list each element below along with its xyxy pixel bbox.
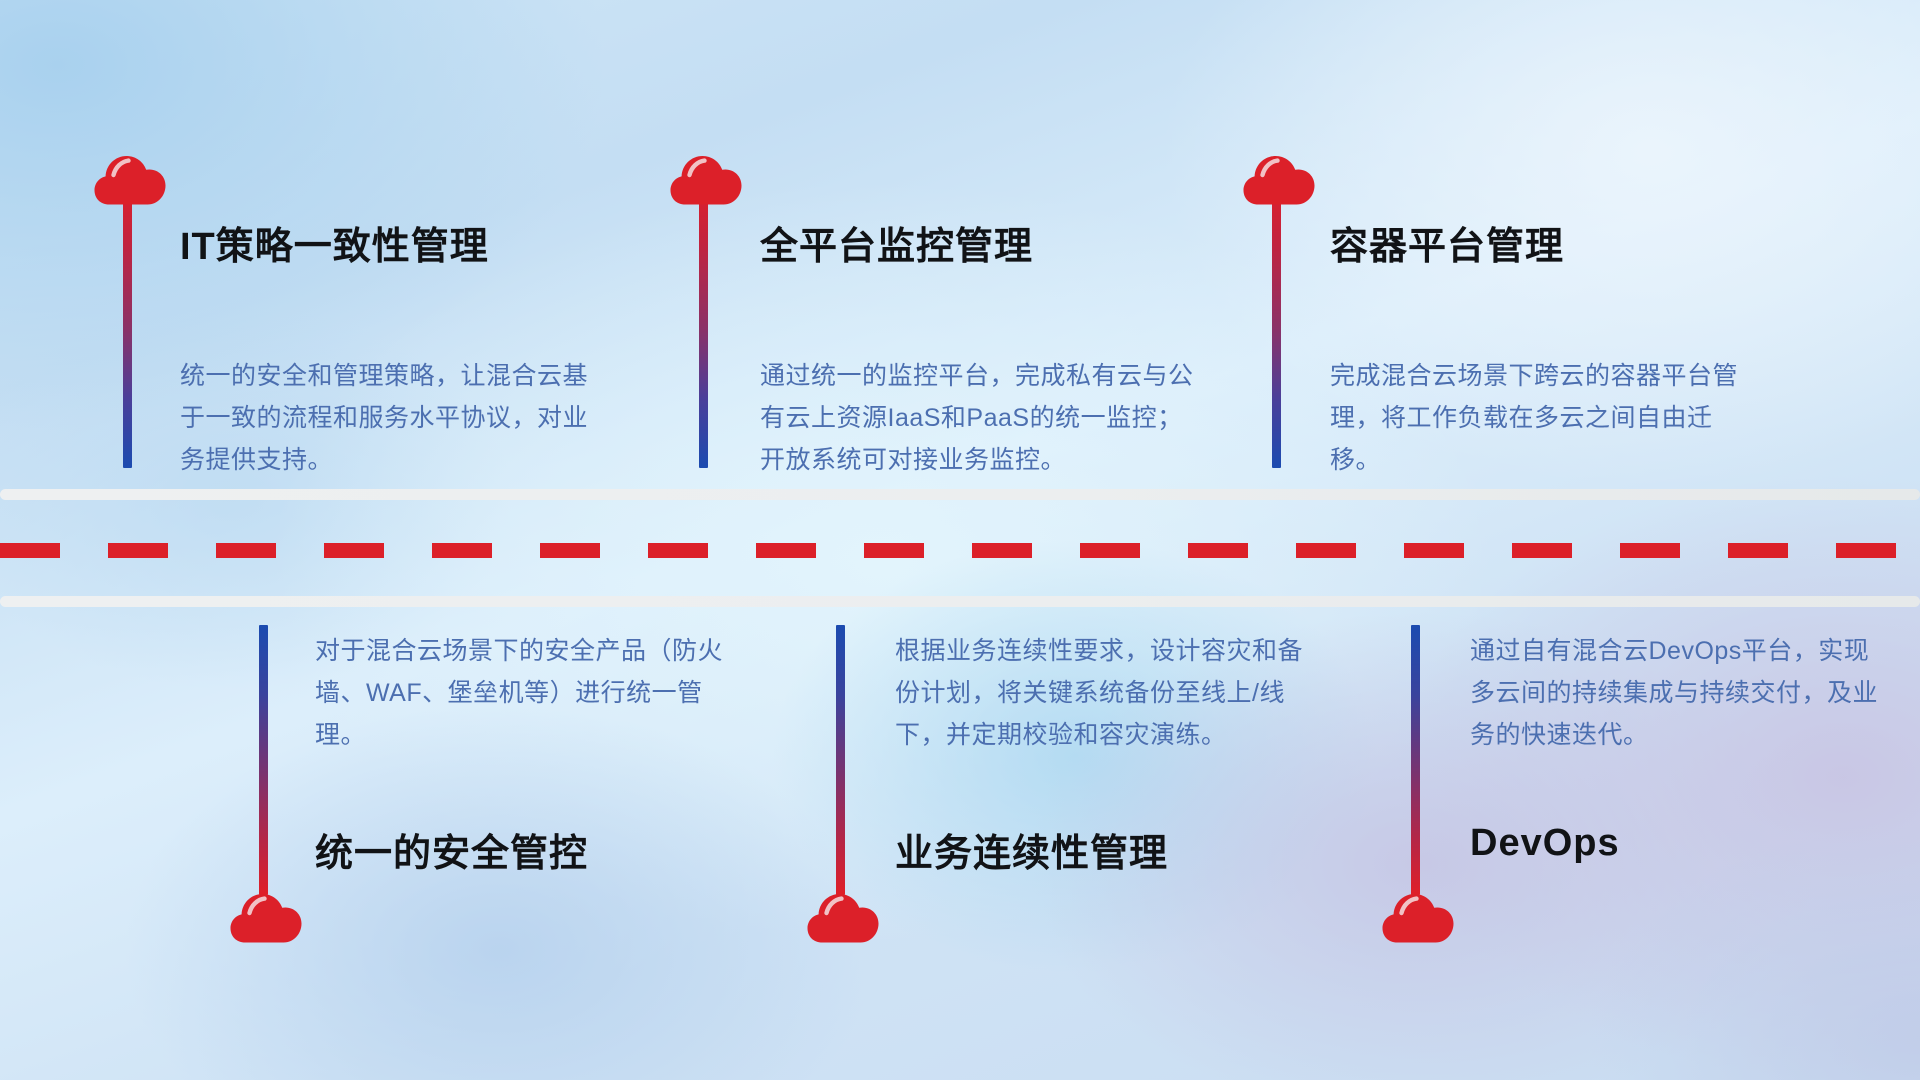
item-title: DevOps xyxy=(1470,822,1620,865)
marker-stem xyxy=(1411,625,1420,895)
cloud-icon xyxy=(1242,152,1316,208)
item-body: 对于混合云场景下的安全产品（防火墙、WAF、堡垒机等）进行统一管理。 xyxy=(315,630,735,756)
cloud-icon xyxy=(229,890,303,946)
marker-stem xyxy=(259,625,268,895)
marker-stem xyxy=(836,625,845,895)
infographic-canvas: IT策略一致性管理 统一的安全和管理策略，让混合云基于一致的流程和服务水平协议，… xyxy=(0,0,1920,1080)
item-title: 全平台监控管理 xyxy=(760,215,1033,270)
cloud-icon xyxy=(1381,890,1455,946)
road-rail-bottom xyxy=(0,596,1920,607)
cloud-icon xyxy=(669,152,743,208)
item-body: 通过自有混合云DevOps平台，实现多云间的持续集成与持续交付，及业务的快速迭代… xyxy=(1470,630,1890,756)
cloud-icon xyxy=(806,890,880,946)
road-dashed-center-line xyxy=(0,543,1920,558)
item-title: 统一的安全管控 xyxy=(315,822,588,877)
item-body: 统一的安全和管理策略，让混合云基于一致的流程和服务水平协议，对业务提供支持。 xyxy=(180,355,600,481)
item-body: 根据业务连续性要求，设计容灾和备份计划，将关键系统备份至线上/线下，并定期校验和… xyxy=(895,630,1315,756)
item-body: 通过统一的监控平台，完成私有云与公有云上资源IaaS和PaaS的统一监控；开放系… xyxy=(760,355,1195,481)
item-title: 容器平台管理 xyxy=(1330,215,1564,270)
marker-stem xyxy=(123,180,132,468)
cloud-icon xyxy=(93,152,167,208)
item-title: IT策略一致性管理 xyxy=(180,215,489,270)
road-rail-top xyxy=(0,489,1920,500)
item-body: 完成混合云场景下跨云的容器平台管理，将工作负载在多云之间自由迁移。 xyxy=(1330,355,1760,481)
item-title: 业务连续性管理 xyxy=(895,822,1168,877)
marker-stem xyxy=(1272,180,1281,468)
marker-stem xyxy=(699,180,708,468)
